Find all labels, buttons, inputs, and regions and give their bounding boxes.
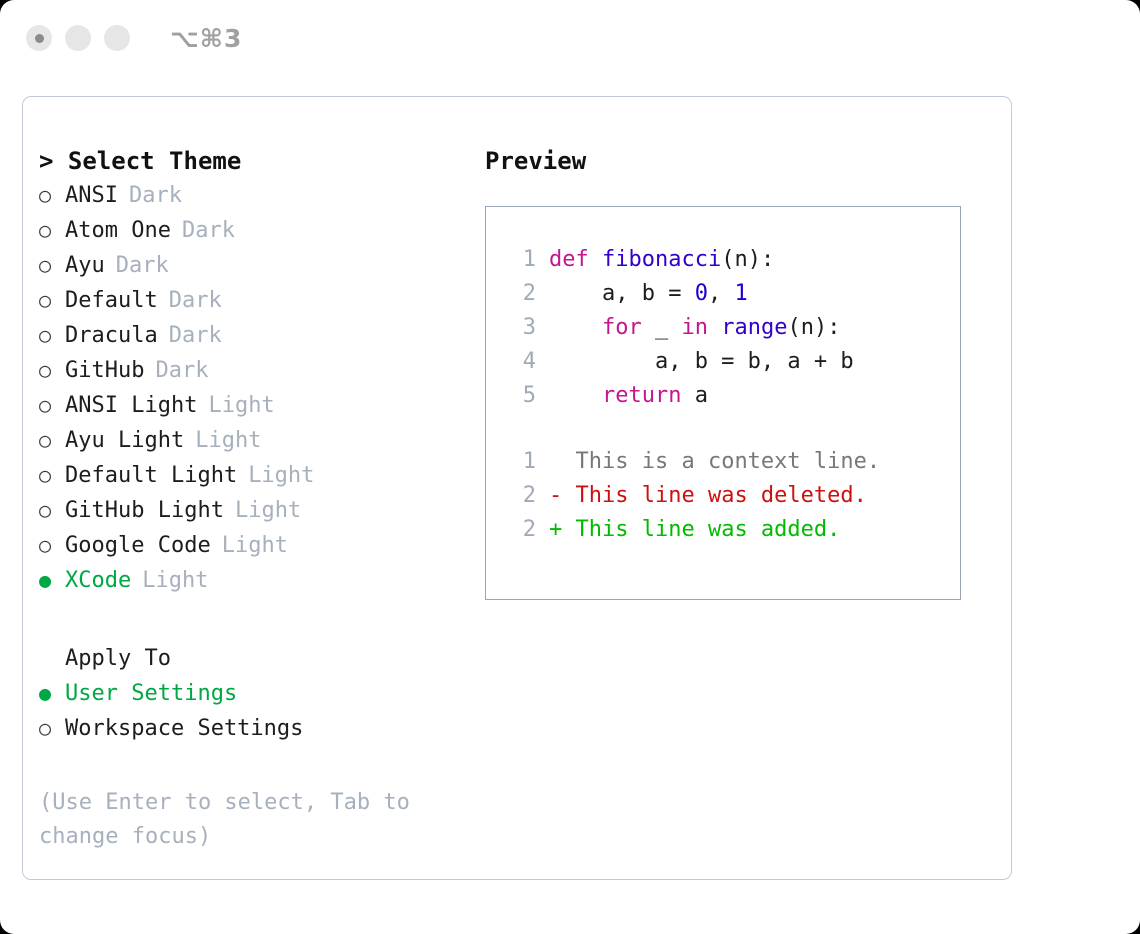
diff-line-ctx: 1 This is a context line. xyxy=(506,445,960,479)
theme-option-kind: Light xyxy=(142,564,208,598)
code-token-kw: in xyxy=(681,315,721,340)
code-token-plain: (n): xyxy=(721,247,774,272)
app-window: ⌥⌘3 > Select Theme ○ANSIDark○Atom OneDar… xyxy=(0,0,1140,934)
radio-unselected-icon[interactable]: ○ xyxy=(39,353,65,387)
theme-option-default[interactable]: ○DefaultDark xyxy=(39,283,485,318)
theme-option-name: Default Light xyxy=(65,459,237,493)
radio-unselected-icon[interactable]: ○ xyxy=(39,423,65,457)
code-token-kw: for xyxy=(549,315,655,340)
code-line-text: for _ in range(n): xyxy=(549,311,840,345)
theme-option-kind: Dark xyxy=(169,284,222,318)
code-token-plain: a, b = xyxy=(549,281,695,306)
code-token-plain: _ xyxy=(655,315,682,340)
code-line-number: 2 xyxy=(506,277,536,311)
code-token-kw: return xyxy=(549,383,695,408)
code-line-number: 4 xyxy=(506,345,536,379)
theme-list[interactable]: ○ANSIDark○Atom OneDark○AyuDark○DefaultDa… xyxy=(39,178,485,598)
theme-option-github[interactable]: ○GitHubDark xyxy=(39,353,485,388)
theme-option-kind: Light xyxy=(208,389,274,423)
apply-to-option-name: User Settings xyxy=(65,677,237,711)
apply-to-option-name: Workspace Settings xyxy=(65,712,303,746)
theme-option-ansi-light[interactable]: ○ANSI LightLight xyxy=(39,388,485,423)
theme-option-name: Ayu xyxy=(65,249,105,283)
theme-option-kind: Dark xyxy=(116,249,169,283)
radio-unselected-icon[interactable]: ○ xyxy=(39,248,65,282)
diff-line-text: This line was deleted. xyxy=(576,479,867,513)
code-line: 2 a, b = 0, 1 xyxy=(506,277,960,311)
radio-unselected-icon[interactable]: ○ xyxy=(39,458,65,492)
theme-option-name: XCode xyxy=(65,564,131,598)
code-line-number: 5 xyxy=(506,379,536,413)
code-line-text: a, b = b, a + b xyxy=(549,345,854,379)
theme-option-kind: Dark xyxy=(129,179,182,213)
code-token-fn: fibonacci xyxy=(602,247,721,272)
code-line: 3 for _ in range(n): xyxy=(506,311,960,345)
window-control-minimize-icon[interactable] xyxy=(65,25,91,51)
code-token-kw: def xyxy=(549,247,602,272)
keyboard-shortcut-label: ⌥⌘3 xyxy=(170,24,242,53)
code-token-num: 0 xyxy=(695,281,708,306)
code-token-plain: a xyxy=(695,383,708,408)
theme-option-name: Google Code xyxy=(65,529,211,563)
theme-option-kind: Light xyxy=(248,459,314,493)
theme-option-name: Default xyxy=(65,284,158,318)
preview-spacer xyxy=(506,413,960,445)
apply-to-option-workspace-settings[interactable]: ○Workspace Settings xyxy=(39,711,485,746)
radio-unselected-icon[interactable]: ○ xyxy=(39,283,65,317)
theme-option-kind: Light xyxy=(222,529,288,563)
code-sample: 1def fibonacci(n):2 a, b = 0, 13 for _ i… xyxy=(506,243,960,413)
window-control-close-icon[interactable] xyxy=(26,25,52,51)
code-line-text: return a xyxy=(549,379,708,413)
theme-option-name: GitHub xyxy=(65,354,144,388)
code-token-plain: (n): xyxy=(787,315,840,340)
diff-marker: - xyxy=(549,479,576,513)
radio-unselected-icon[interactable]: ○ xyxy=(39,493,65,527)
theme-option-kind: Light xyxy=(195,424,261,458)
code-line-number: 3 xyxy=(506,311,536,345)
theme-list-column: > Select Theme ○ANSIDark○Atom OneDark○Ay… xyxy=(23,97,485,879)
diff-marker xyxy=(549,445,576,479)
diff-line-number: 2 xyxy=(506,513,536,547)
radio-unselected-icon[interactable]: ○ xyxy=(39,318,65,352)
code-line-number: 1 xyxy=(506,243,536,277)
preview-box: 1def fibonacci(n):2 a, b = 0, 13 for _ i… xyxy=(485,206,961,600)
code-token-num: 1 xyxy=(734,281,747,306)
preview-column: Preview 1def fibonacci(n):2 a, b = 0, 13… xyxy=(485,97,1011,879)
code-token-fn: range xyxy=(721,315,787,340)
code-line: 4 a, b = b, a + b xyxy=(506,345,960,379)
theme-option-ayu[interactable]: ○AyuDark xyxy=(39,248,485,283)
theme-option-kind: Dark xyxy=(182,214,235,248)
title-bar: ⌥⌘3 xyxy=(0,0,1140,76)
theme-option-github-light[interactable]: ○GitHub LightLight xyxy=(39,493,485,528)
theme-option-kind: Dark xyxy=(155,354,208,388)
theme-option-kind: Light xyxy=(235,494,301,528)
preview-header: Preview xyxy=(485,144,1011,178)
code-line-text: a, b = 0, 1 xyxy=(549,277,748,311)
theme-option-google-code[interactable]: ○Google CodeLight xyxy=(39,528,485,563)
theme-option-ayu-light[interactable]: ○Ayu LightLight xyxy=(39,423,485,458)
radio-unselected-icon[interactable]: ○ xyxy=(39,711,65,745)
code-token-plain: , xyxy=(708,281,735,306)
diff-sample: 1 This is a context line.2- This line wa… xyxy=(506,445,960,547)
diff-line-text: This is a context line. xyxy=(576,445,881,479)
theme-option-name: GitHub Light xyxy=(65,494,224,528)
theme-picker-panel: > Select Theme ○ANSIDark○Atom OneDark○Ay… xyxy=(22,96,1012,880)
theme-option-default-light[interactable]: ○Default LightLight xyxy=(39,458,485,493)
keyboard-hint-text: (Use Enter to select, Tab to change focu… xyxy=(39,786,449,854)
theme-option-ansi[interactable]: ○ANSIDark xyxy=(39,178,485,213)
diff-line-del: 2- This line was deleted. xyxy=(506,479,960,513)
window-control-maximize-icon[interactable] xyxy=(104,25,130,51)
theme-option-name: Atom One xyxy=(65,214,171,248)
theme-option-name: ANSI Light xyxy=(65,389,197,423)
radio-unselected-icon[interactable]: ○ xyxy=(39,213,65,247)
theme-option-kind: Dark xyxy=(169,319,222,353)
code-token-plain: a, b = b, a + b xyxy=(549,349,854,374)
theme-option-name: Ayu Light xyxy=(65,424,184,458)
code-line: 5 return a xyxy=(506,379,960,413)
apply-to-option-user-settings[interactable]: ●User Settings xyxy=(39,676,485,711)
theme-option-xcode[interactable]: ●XCodeLight xyxy=(39,563,485,598)
apply-to-list[interactable]: ●User Settings○Workspace Settings xyxy=(39,676,485,746)
theme-option-dracula[interactable]: ○DraculaDark xyxy=(39,318,485,353)
diff-line-number: 1 xyxy=(506,445,536,479)
radio-selected-icon[interactable]: ● xyxy=(39,676,65,710)
theme-option-name: ANSI xyxy=(65,179,118,213)
radio-unselected-icon[interactable]: ○ xyxy=(39,178,65,212)
radio-unselected-icon[interactable]: ○ xyxy=(39,528,65,562)
code-line-text: def fibonacci(n): xyxy=(549,243,774,277)
theme-option-name: Dracula xyxy=(65,319,158,353)
diff-marker: + xyxy=(549,513,576,547)
theme-option-atom-one[interactable]: ○Atom OneDark xyxy=(39,213,485,248)
diff-line-text: This line was added. xyxy=(576,513,841,547)
apply-to-header: Apply To xyxy=(39,642,485,676)
diff-line-add: 2+ This line was added. xyxy=(506,513,960,547)
radio-unselected-icon[interactable]: ○ xyxy=(39,388,65,422)
select-theme-header: > Select Theme xyxy=(39,144,485,178)
window-controls[interactable] xyxy=(26,25,130,51)
apply-to-section: Apply To ●User Settings○Workspace Settin… xyxy=(39,642,485,746)
diff-line-number: 2 xyxy=(506,479,536,513)
radio-selected-icon[interactable]: ● xyxy=(39,563,65,597)
code-line: 1def fibonacci(n): xyxy=(506,243,960,277)
